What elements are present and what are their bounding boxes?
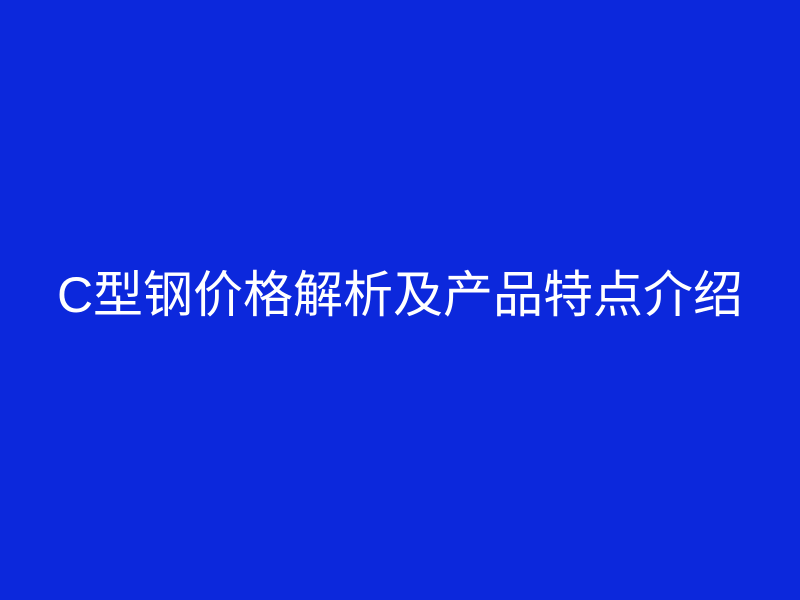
page-title: C型钢价格解析及产品特点介绍 xyxy=(57,270,743,320)
title-banner: C型钢价格解析及产品特点介绍 xyxy=(0,0,800,600)
